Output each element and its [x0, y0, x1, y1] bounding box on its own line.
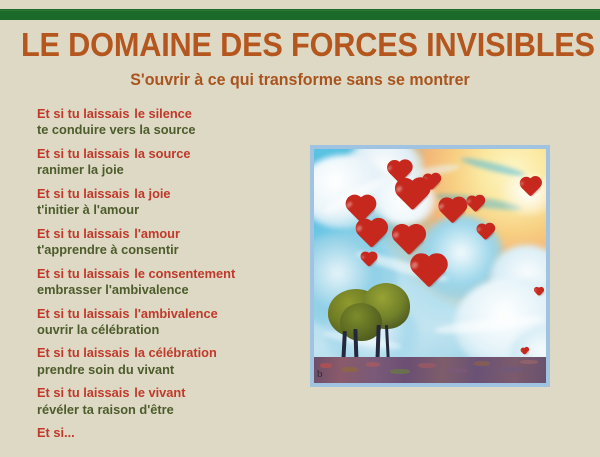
slide-canvas: LE DOMAINE DES FORCES INVISIBLES S'ouvri…: [0, 0, 600, 457]
verse-object: la célébration: [134, 345, 216, 360]
verse-lead-line: Et si tu laissaisla joie: [37, 186, 291, 202]
verse-stem: Et si tu laissais: [37, 106, 129, 121]
ground-speck: [474, 361, 490, 366]
brush-stroke: [460, 155, 526, 179]
artist-watermark: b: [317, 366, 333, 382]
verse-stem: Et si tu laissais: [37, 226, 129, 241]
verse-item: Et si tu laissaisla joie t'initier à l'a…: [37, 186, 299, 218]
verse-stem: Et si tu laissais: [37, 345, 129, 360]
verse-lead-line: Et si tu laissaisle silence: [37, 106, 291, 122]
verse-item: Et si tu laissaisle silence te conduire …: [37, 106, 299, 138]
verse-lead-line: Et si tu laissaisla célébration: [37, 345, 291, 361]
verse-stem: Et si tu laissais: [37, 266, 129, 281]
artwork-frame: b: [310, 145, 550, 387]
verse-echo-line: ranimer la joie: [37, 162, 291, 178]
ground-speck: [366, 362, 380, 367]
verse-echo-line: t'initier à l'amour: [37, 202, 291, 218]
artwork-illustration: b: [314, 149, 546, 383]
verse-object: le silence: [134, 106, 192, 121]
verse-item: Et si tu laissaisl'amour t'apprendre à c…: [37, 226, 299, 258]
verse-closing: Et si...: [37, 425, 299, 441]
meadow-ground: [314, 357, 546, 383]
verse-item: Et si tu laissaisle vivant révéler ta ra…: [37, 385, 299, 417]
verse-object: la joie: [134, 186, 170, 201]
verse-echo-line: révéler ta raison d'être: [37, 402, 291, 418]
top-accent-rule: [0, 9, 600, 20]
verse-stem: Et si tu laissais: [37, 186, 129, 201]
verse-object: la source: [134, 146, 190, 161]
verse-lead-line: Et si tu laissaisle consentement: [37, 266, 291, 282]
verse-object: le consentement: [134, 266, 235, 281]
verse-echo-line: t'apprendre à consentir: [37, 242, 291, 258]
page-title: LE DOMAINE DES FORCES INVISIBLES: [21, 28, 579, 63]
verse-lead-line: Et si tu laissaisle vivant: [37, 385, 291, 401]
verse-lead-line: Et si tu laissaisl'amour: [37, 226, 291, 242]
verse-stem: Et si tu laissais: [37, 146, 129, 161]
verse-stem: Et si tu laissais: [37, 385, 129, 400]
verse-list: Et si tu laissaisle silence te conduire …: [37, 106, 299, 441]
ground-speck: [342, 367, 358, 372]
verse-echo-line: te conduire vers la source: [37, 122, 291, 138]
heart-icon: [468, 197, 484, 213]
verse-echo-line: embrasser l'ambivalence: [37, 282, 291, 298]
ground-speck: [390, 369, 410, 374]
verse-echo-line: prendre soin du vivant: [37, 362, 291, 378]
verse-item: Et si tu laissaisla célébration prendre …: [37, 345, 299, 377]
ground-speck: [500, 367, 524, 372]
verse-echo-line: ouvrir la célébration: [37, 322, 291, 338]
verse-item: Et si tu laissaisle consentement embrass…: [37, 266, 299, 298]
verse-stem: Et si tu laissais: [37, 306, 129, 321]
verse-lead-line: Et si tu laissaisla source: [37, 146, 291, 162]
ground-speck: [520, 360, 538, 364]
verse-lead-line: Et si tu laissaisl'ambivalence: [37, 306, 291, 322]
verse-object: le vivant: [134, 385, 185, 400]
verse-closing-line: Et si...: [37, 425, 291, 441]
verse-item: Et si tu laissaisl'ambivalence ouvrir la…: [37, 306, 299, 338]
verse-object: l'ambivalence: [134, 306, 217, 321]
ground-speck: [418, 363, 436, 368]
top-accent-rule-inner: [0, 10, 600, 19]
verse-object: l'amour: [134, 226, 180, 241]
page-subtitle: S'ouvrir à ce qui transforme sans se mon…: [18, 71, 582, 90]
verse-item: Et si tu laissaisla source ranimer la jo…: [37, 146, 299, 178]
ground-speck: [446, 368, 468, 373]
